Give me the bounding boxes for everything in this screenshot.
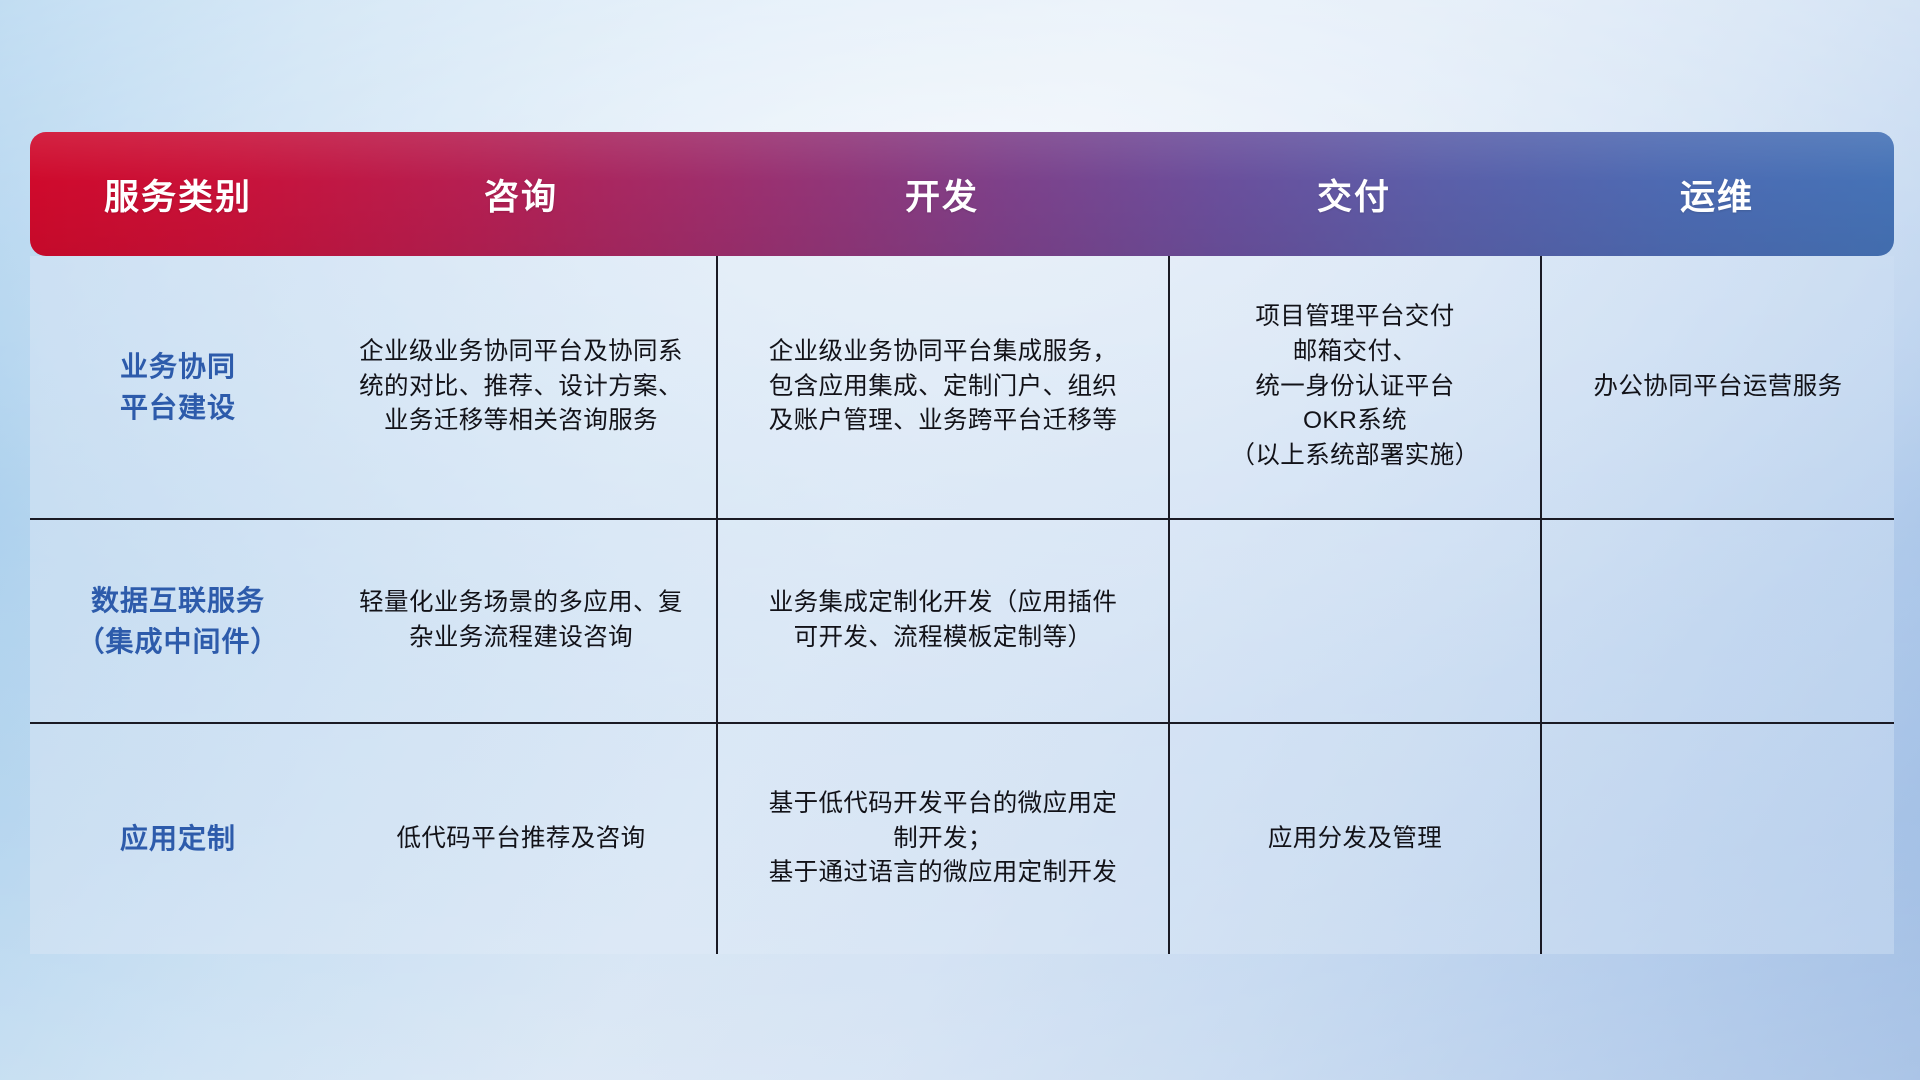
cell-row2-operations [1540, 724, 1894, 954]
cell-row0-development: 企业级业务协同平台集成服务， 包含应用集成、定制门户、组织 及账户管理、业务跨平… [716, 256, 1168, 518]
table-header-row: 服务类别 咨询 开发 交付 运维 [30, 132, 1894, 256]
column-header-consulting-label: 咨询 [484, 169, 558, 220]
cell-row1-delivery [1168, 520, 1540, 722]
cell-row2-development: 基于低代码开发平台的微应用定 制开发； 基于通过语言的微应用定制开发 [716, 724, 1168, 954]
column-header-development: 开发 [716, 132, 1168, 256]
column-header-service-category-label: 服务类别 [104, 169, 252, 220]
row-label-application-customization: 应用定制 [30, 724, 326, 954]
cell-row2-delivery: 应用分发及管理 [1168, 724, 1540, 954]
row-label-data-interconnection-service: 数据互联服务 （集成中间件） [30, 520, 326, 722]
cell-row0-delivery: 项目管理平台交付 邮箱交付、 统一身份认证平台 OKR系统 （以上系统部署实施） [1168, 256, 1540, 518]
service-matrix-table: 服务类别 咨询 开发 交付 运维 业务协同 平台建设 企业级业务协同平台及协同系… [30, 132, 1894, 950]
column-header-delivery-label: 交付 [1317, 169, 1391, 220]
column-header-development-label: 开发 [905, 169, 979, 220]
cell-row1-development: 业务集成定制化开发（应用插件 可开发、流程模板定制等） [716, 520, 1168, 722]
cell-row1-operations [1540, 520, 1894, 722]
row-label-business-collaboration-platform: 业务协同 平台建设 [30, 256, 326, 518]
column-header-consulting: 咨询 [326, 132, 716, 256]
column-header-operations-label: 运维 [1680, 169, 1754, 220]
cell-row0-operations: 办公协同平台运营服务 [1540, 256, 1894, 518]
table-row: 应用定制 低代码平台推荐及咨询 基于低代码开发平台的微应用定 制开发； 基于通过… [30, 722, 1894, 954]
column-header-operations: 运维 [1540, 132, 1894, 256]
cell-row1-consulting: 轻量化业务场景的多应用、复 杂业务流程建设咨询 [326, 520, 716, 722]
column-header-delivery: 交付 [1168, 132, 1540, 256]
table-row: 数据互联服务 （集成中间件） 轻量化业务场景的多应用、复 杂业务流程建设咨询 业… [30, 518, 1894, 722]
cell-row0-consulting: 企业级业务协同平台及协同系 统的对比、推荐、设计方案、 业务迁移等相关咨询服务 [326, 256, 716, 518]
cell-row2-consulting: 低代码平台推荐及咨询 [326, 724, 716, 954]
column-header-service-category: 服务类别 [30, 132, 326, 256]
table-row: 业务协同 平台建设 企业级业务协同平台及协同系 统的对比、推荐、设计方案、 业务… [30, 256, 1894, 518]
table-body: 业务协同 平台建设 企业级业务协同平台及协同系 统的对比、推荐、设计方案、 业务… [30, 256, 1894, 954]
